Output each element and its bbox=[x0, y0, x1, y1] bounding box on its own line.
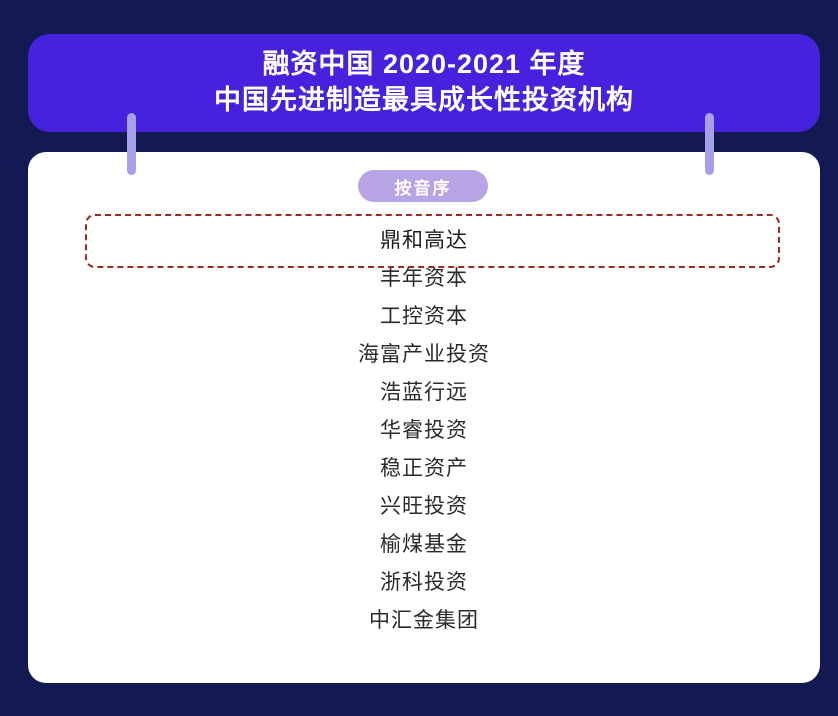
list-item: 兴旺投资 bbox=[380, 488, 468, 526]
header-title-line-2: 中国先进制造最具成长性投资机构 bbox=[214, 83, 634, 119]
sort-order-badge-label: 按音序 bbox=[395, 174, 452, 199]
sort-order-badge: 按音序 bbox=[358, 170, 488, 202]
poster-background: 融资中国 2020-2021 年度 中国先进制造最具成长性投资机构 按音序 鼎和… bbox=[0, 0, 838, 716]
list-item: 鼎和高达 bbox=[380, 222, 468, 260]
list-item: 海富产业投资 bbox=[358, 336, 490, 374]
header-banner: 融资中国 2020-2021 年度 中国先进制造最具成长性投资机构 bbox=[28, 34, 820, 132]
connector-ribbon-right bbox=[705, 113, 714, 175]
list-item: 浙科投资 bbox=[380, 564, 468, 602]
list-item: 中汇金集团 bbox=[369, 602, 479, 640]
list-item: 华睿投资 bbox=[380, 412, 468, 450]
header-title-line-1: 融资中国 2020-2021 年度 bbox=[262, 47, 585, 83]
institution-list: 鼎和高达丰年资本工控资本海富产业投资浩蓝行远华睿投资稳正资产兴旺投资榆煤基金浙科… bbox=[28, 222, 820, 640]
list-item: 稳正资产 bbox=[380, 450, 468, 488]
list-item: 丰年资本 bbox=[380, 260, 468, 298]
list-item: 榆煤基金 bbox=[380, 526, 468, 564]
connector-ribbon-left bbox=[127, 113, 136, 175]
list-item: 浩蓝行远 bbox=[380, 374, 468, 412]
list-item: 工控资本 bbox=[380, 298, 468, 336]
